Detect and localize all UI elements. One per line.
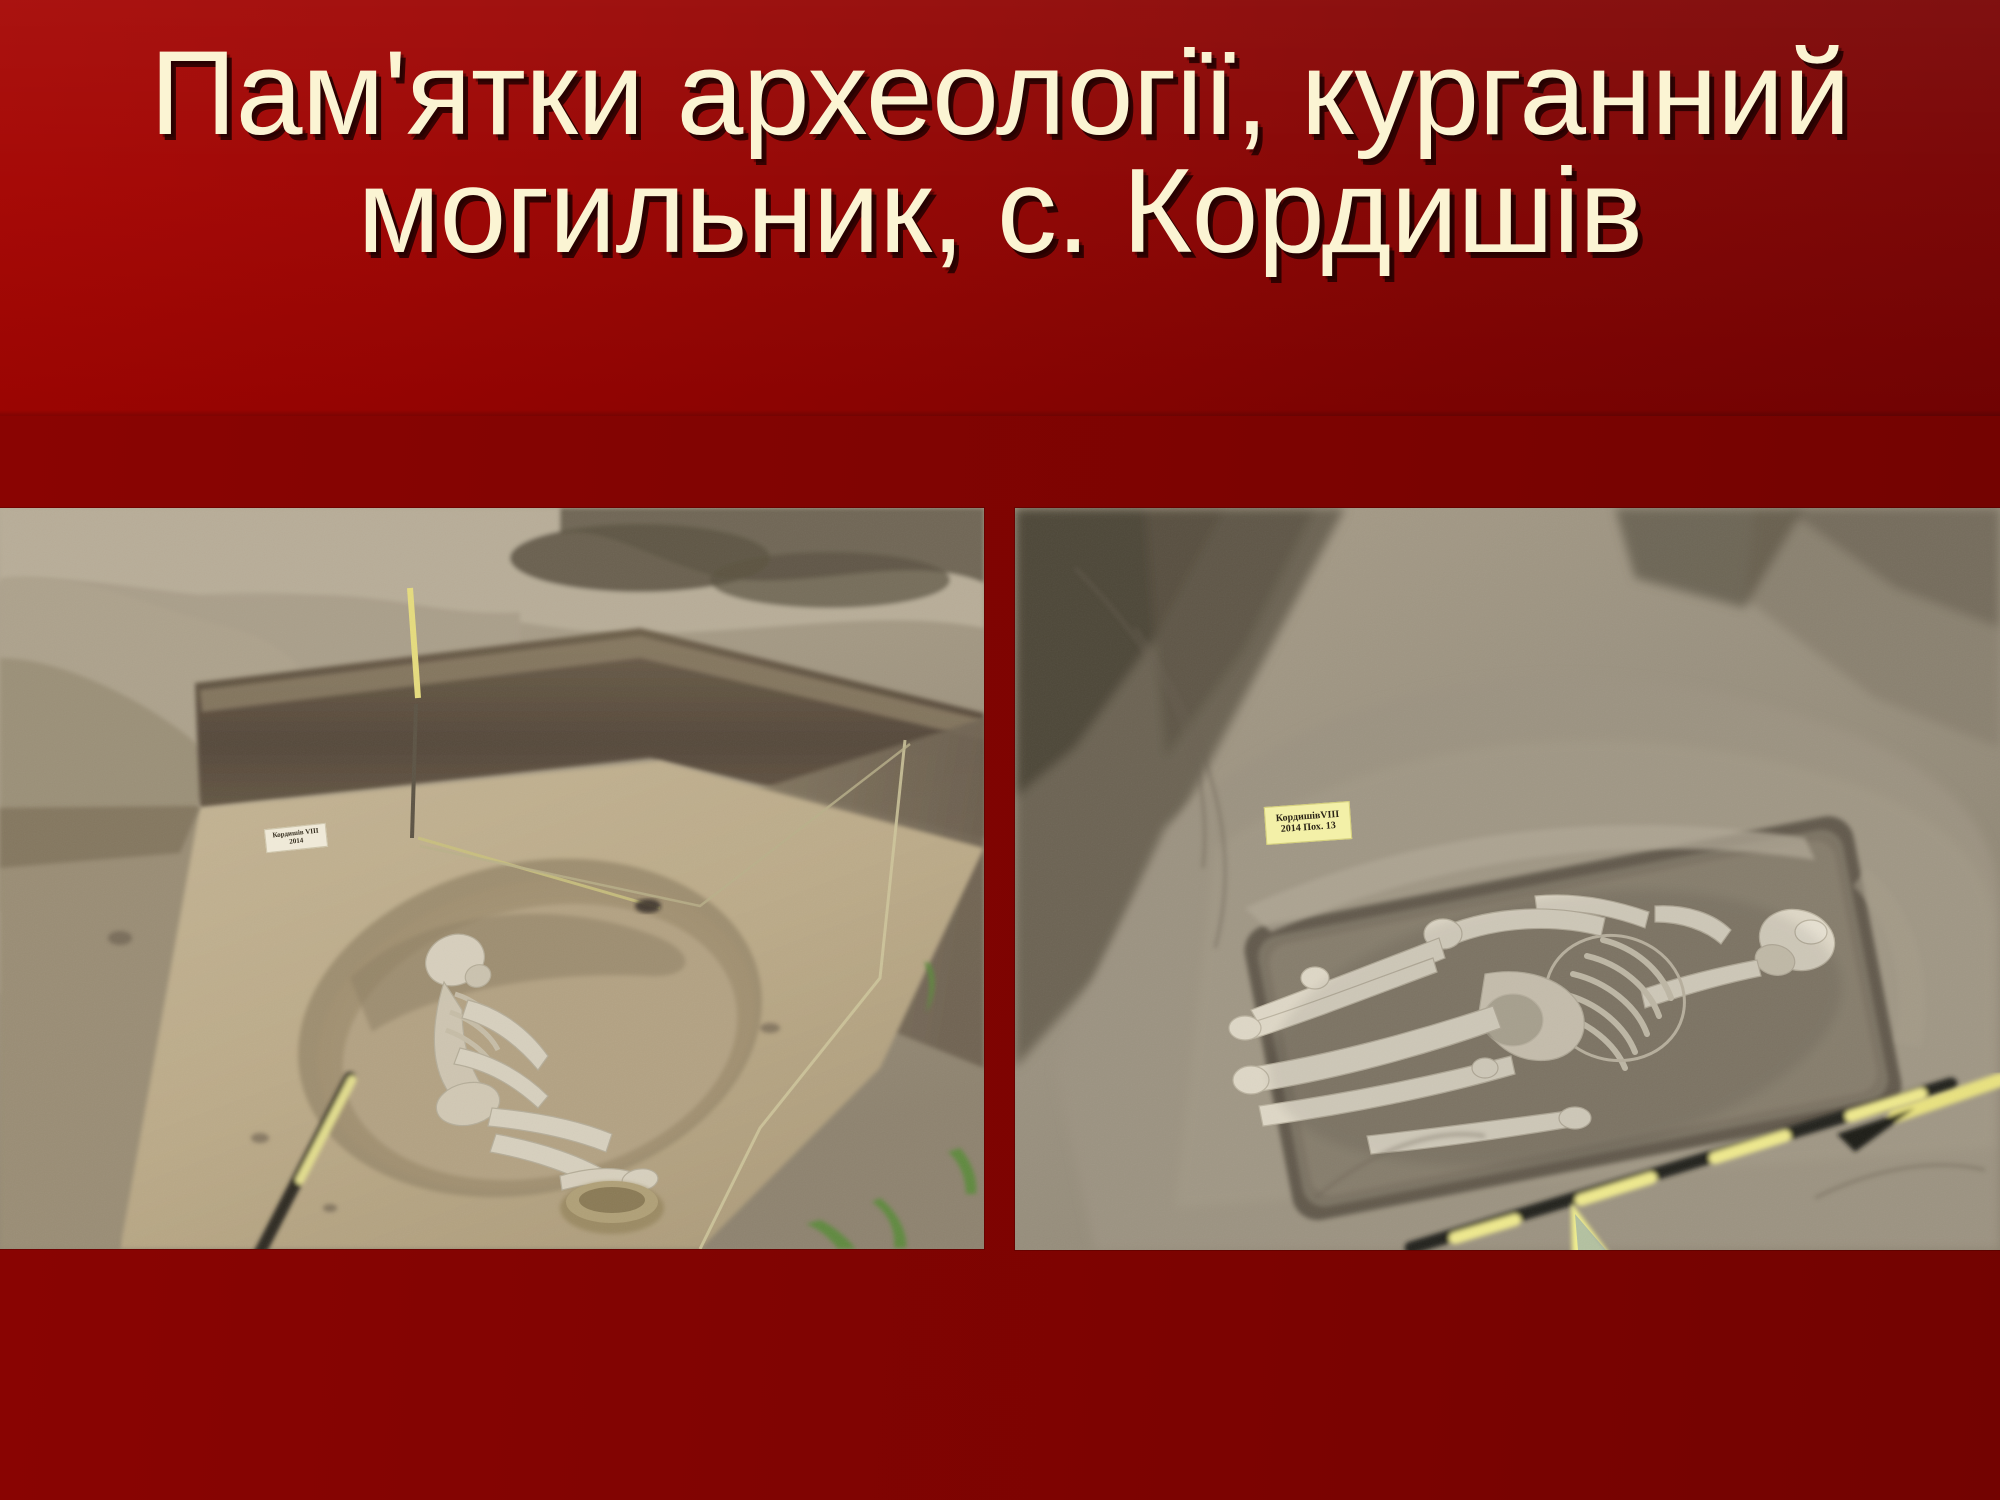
slide-title: Пам'ятки археології, курганний могильник… <box>0 34 2000 270</box>
presentation-slide: Пам'ятки археології, курганний могильник… <box>0 0 2000 1500</box>
photo-excavation-pit-crouched-burial: Кордишів VIII 2014 <box>0 508 984 1249</box>
photo-right-scene <box>1015 508 2000 1250</box>
photo-grave-pit-extended-skeleton: КордишівVIII 2014 Пох. 13 <box>1015 508 2000 1250</box>
field-label-card-right: КордишівVIII 2014 Пох. 13 <box>1264 801 1352 845</box>
slide-title-line-2: могильник, с. Кордишів <box>0 152 2000 270</box>
slide-title-line-1: Пам'ятки археології, курганний <box>0 34 2000 152</box>
photo-left-scene <box>0 508 984 1249</box>
